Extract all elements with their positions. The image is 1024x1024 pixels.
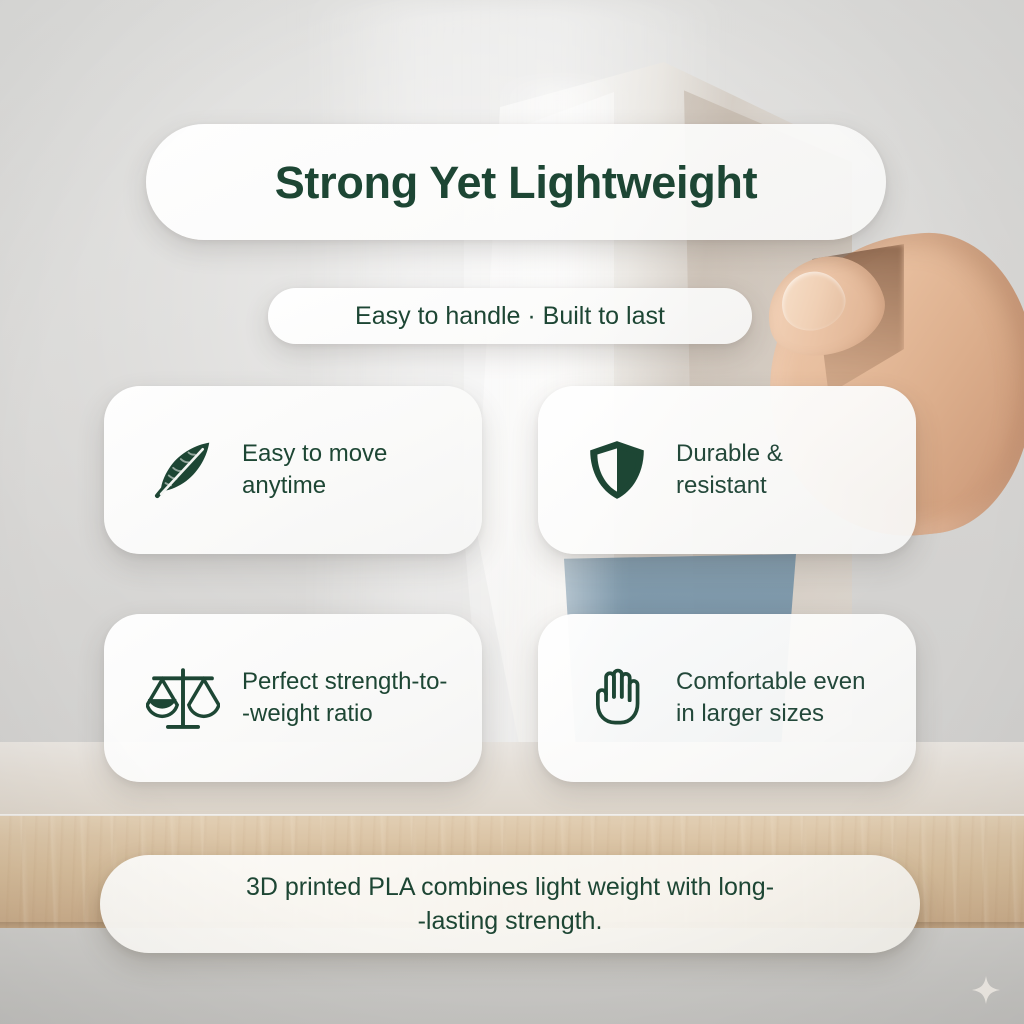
feature-card-comfortable-sizes[interactable]: Comfortable even in larger sizes bbox=[538, 614, 916, 782]
feature-label: Comfortable even in larger sizes bbox=[676, 666, 865, 731]
footer-banner: 3D printed PLA combines light weight wit… bbox=[100, 855, 920, 953]
feature-card-strength-to-weight[interactable]: Perfect strength-to- -weight ratio bbox=[104, 614, 482, 782]
shield-icon bbox=[576, 429, 658, 511]
feather-icon bbox=[142, 429, 224, 511]
poster-canvas: Strong Yet Lightweight Easy to handle · … bbox=[0, 0, 1024, 1024]
page-subtitle: Easy to handle · Built to last bbox=[355, 304, 665, 329]
feature-label: Easy to move anytime bbox=[242, 438, 387, 503]
feature-label: Perfect strength-to- -weight ratio bbox=[242, 666, 447, 731]
balance-scale-icon bbox=[142, 657, 224, 739]
title-banner: Strong Yet Lightweight bbox=[146, 124, 886, 240]
feature-card-durable-resistant[interactable]: Durable & resistant bbox=[538, 386, 916, 554]
feature-card-easy-to-move[interactable]: Easy to move anytime bbox=[104, 386, 482, 554]
page-title: Strong Yet Lightweight bbox=[275, 160, 758, 205]
subtitle-banner: Easy to handle · Built to last bbox=[268, 288, 752, 344]
hand-icon bbox=[576, 657, 658, 739]
sparkle-icon bbox=[971, 975, 1001, 1005]
footer-text: 3D printed PLA combines light weight wit… bbox=[246, 870, 774, 939]
feature-label: Durable & resistant bbox=[676, 438, 783, 503]
